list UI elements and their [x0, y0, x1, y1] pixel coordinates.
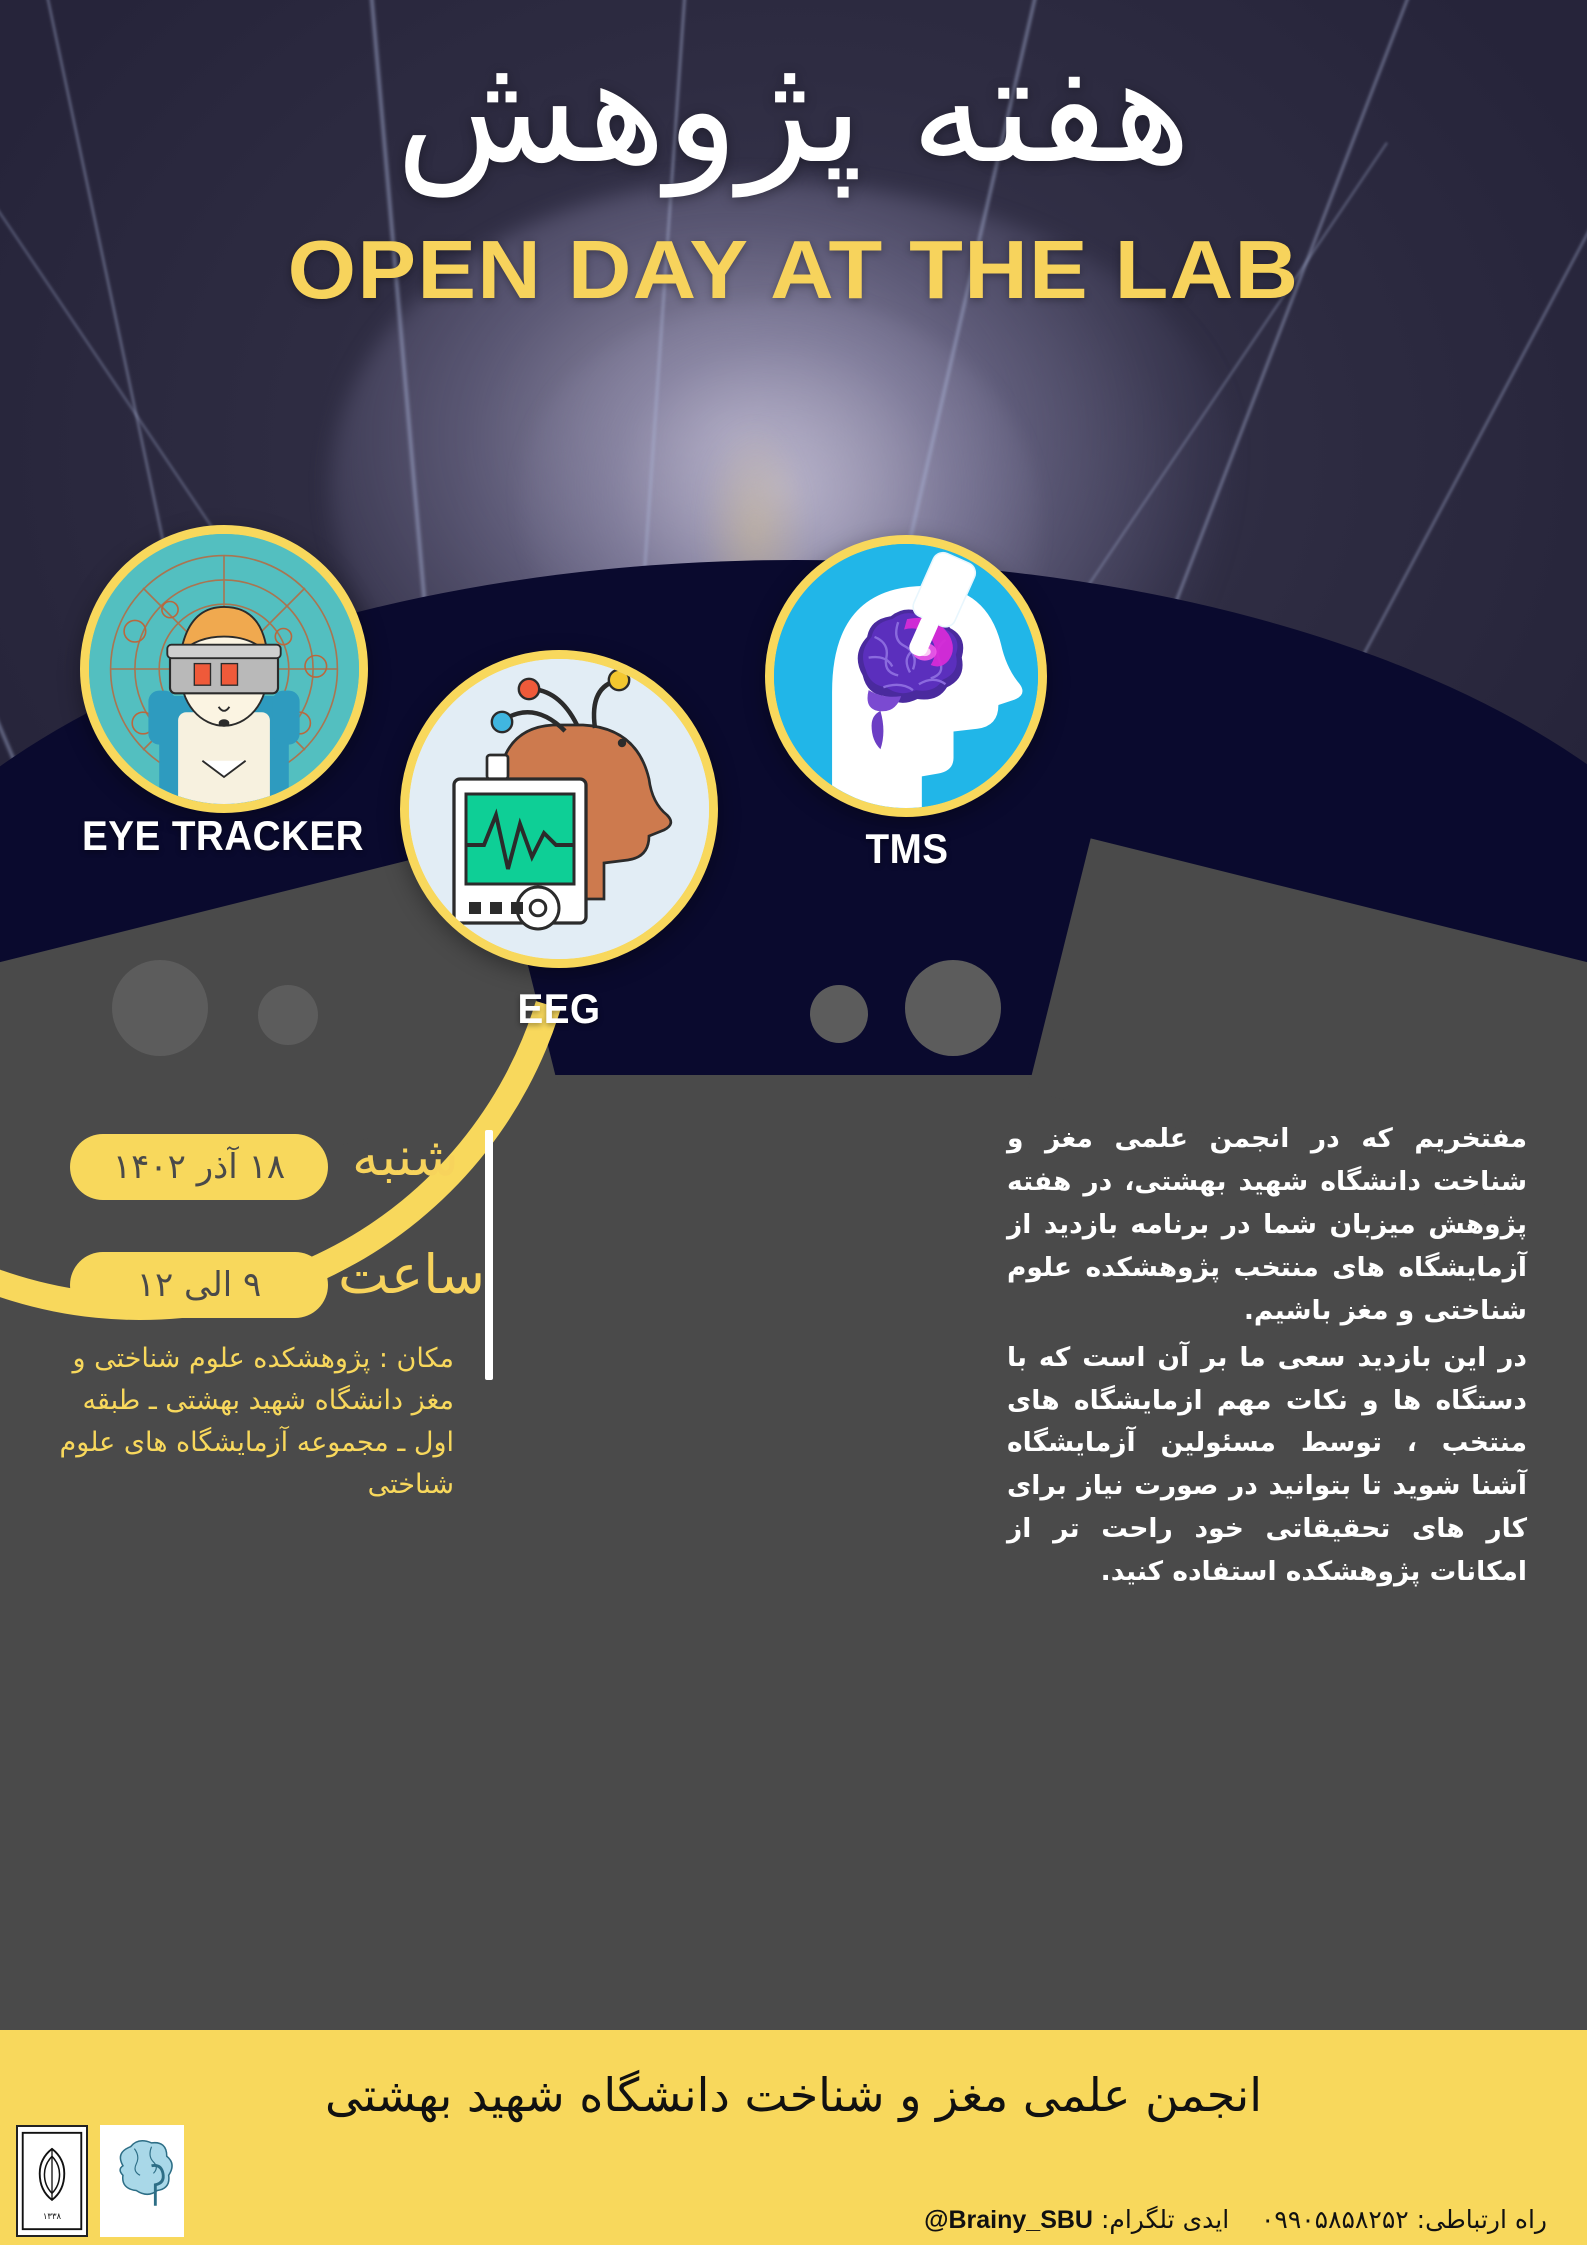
telegram-label: ایدی تلگرام:	[1101, 2205, 1229, 2234]
page-title-persian: هفته پژوهش	[0, 22, 1587, 199]
decorative-circle	[905, 960, 1001, 1056]
contact-label: راه ارتباطی:	[1417, 2205, 1547, 2234]
svg-text:۱۳۳۸: ۱۳۳۸	[43, 2212, 62, 2222]
time-label: ساعت	[338, 1248, 485, 1302]
decorative-circle	[112, 960, 208, 1056]
poster-root: هفته پژوهش OPEN DAY AT THE LAB	[0, 0, 1587, 2245]
vertical-divider	[485, 1130, 493, 1380]
description-paragraph-1: مفتخریم که در انجمن علمی مغز و شناخت دان…	[1007, 1118, 1527, 1333]
eye-tracker-icon	[80, 525, 368, 813]
description-block: مفتخریم که در انجمن علمی مغز و شناخت دان…	[1007, 1118, 1527, 1598]
tms-label: TMS	[783, 825, 1031, 873]
date-badge: ۱۸ آذر ۱۴۰۲	[70, 1134, 328, 1200]
tms-brain-icon	[765, 535, 1047, 817]
eye-tracker-label: EYE TRACKER	[80, 812, 365, 860]
phone-number: ۰۹۹۰۵۸۵۸۲۵۲	[1261, 2205, 1409, 2234]
contact-info: راه ارتباطی: ۰۹۹۰۵۸۵۸۲۵۲ ایدی تلگرام: @B…	[924, 2205, 1547, 2235]
eeg-label: EEG	[415, 985, 704, 1033]
day-label: شنبه	[352, 1130, 459, 1184]
organization-name: انجمن علمی مغز و شناخت دانشگاه شهید بهشت…	[0, 2068, 1587, 2122]
eeg-machine-icon	[400, 650, 718, 968]
details-section: مفتخریم که در انجمن علمی مغز و شناخت دان…	[0, 1100, 1587, 2045]
brain-association-logo	[100, 2125, 184, 2237]
telegram-handle[interactable]: @Brainy_SBU	[924, 2206, 1093, 2234]
page-title-english: OPEN DAY AT THE LAB	[0, 222, 1587, 318]
decorative-circle	[258, 985, 318, 1045]
time-badge: ۹ الی ۱۲	[70, 1252, 328, 1318]
decorative-circle	[810, 985, 868, 1043]
footer-bar: انجمن علمی مغز و شناخت دانشگاه شهید بهشت…	[0, 2030, 1587, 2245]
location-text: مکان : پژوهشکده علوم شناختی و مغز دانشگا…	[34, 1338, 454, 1505]
description-paragraph-2: در این بازدید سعی ما بر آن است که با دست…	[1007, 1337, 1527, 1595]
sbu-university-logo: ۱۳۳۸	[16, 2125, 88, 2237]
